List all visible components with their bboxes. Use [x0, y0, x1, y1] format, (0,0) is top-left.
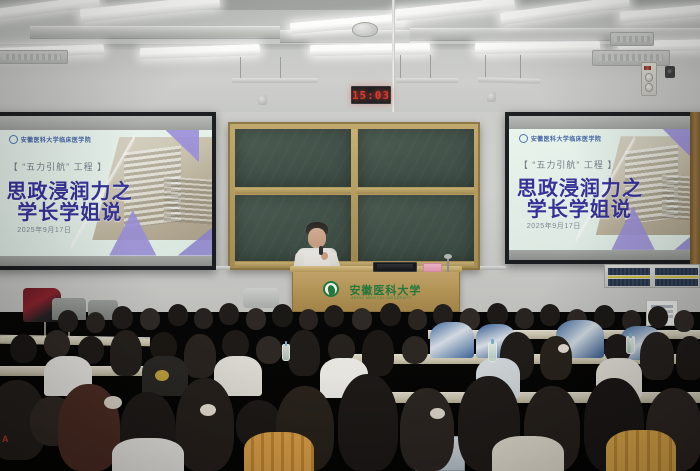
microphone: [319, 246, 323, 255]
light-hanger-1: [240, 57, 241, 79]
slide-date-right: 2025年9月17日: [527, 221, 581, 231]
audience-long-hair: [184, 334, 216, 378]
audience-head: [219, 303, 239, 325]
light-hanger-6: [520, 55, 521, 79]
audience-head: [140, 308, 160, 330]
audience-head: [256, 336, 282, 364]
audience-head: [324, 305, 344, 327]
audience-torso-plaid: [244, 432, 314, 471]
audience-head: [515, 308, 534, 329]
slide-org-name: 安徽医科大学临床医学院: [21, 135, 91, 144]
wall-camera: [665, 66, 675, 78]
slide-title-line2-right: 学长学姐说: [527, 193, 632, 222]
slide-header-right: 安徽医科大学临床医学院: [519, 134, 601, 143]
screen-right-surface: 安徽医科大学临床医学院 【 “五力引航” 工程 】 思政浸润力之 学长学姐说 2…: [509, 116, 700, 260]
audience-torso-plaid: [606, 430, 676, 471]
electrical-breaker-panel: [604, 264, 700, 288]
audience-head: [487, 303, 508, 326]
podium-mic-head: [444, 254, 452, 259]
blackboard-divider-vertical: [351, 129, 357, 261]
screen-left-bottom-bar: [0, 256, 212, 267]
breaker-bank-4: [655, 279, 698, 286]
audience-head: [58, 310, 78, 332]
light-hanger-5: [485, 55, 486, 79]
ceiling-shelf-1: [232, 78, 318, 83]
slide-header-left: 安徽医科大学临床医学院: [9, 135, 91, 144]
hair-tie-yellow: [155, 370, 169, 381]
water-bottle[interactable]: [282, 344, 290, 361]
university-logo-icon-right: [519, 134, 528, 143]
audience-long-hair: [288, 330, 320, 376]
door-frame-right: [690, 112, 700, 282]
wall-rail-left: [216, 266, 230, 270]
audience-torso-white: [112, 438, 184, 471]
audience-head: [402, 336, 428, 364]
audience-long-hair: [640, 332, 674, 380]
slide-right: 安徽医科大学临床医学院 【 “五力引航” 工程 】 思政浸润力之 学长学姐说 2…: [509, 129, 700, 250]
audience-head: [352, 308, 372, 330]
ceiling-diffuser: [610, 32, 654, 46]
screen-left-top-bar: [0, 116, 212, 130]
slide-subtitle-right: 【 “五力引航” 工程 】: [519, 158, 618, 171]
ceiling-light-9: [310, 43, 430, 56]
breaker-bank-1: [608, 268, 650, 275]
university-logo-icon: [9, 135, 18, 144]
blackboard-panel-1: [235, 129, 351, 187]
blackboard: [228, 122, 480, 270]
breaker-bank-2: [608, 279, 650, 286]
blackboard-panel-2: [358, 129, 474, 187]
audience-head: [408, 309, 427, 330]
slide-subtitle: 【 “五力引航” 工程 】: [9, 160, 108, 173]
audience-torso-patterned: [430, 322, 474, 358]
water-bottle[interactable]: [626, 336, 635, 354]
university-emblem-icon: [323, 281, 339, 297]
audience-head: [222, 330, 249, 359]
audience-head: [246, 308, 266, 330]
audience-long-hair: [110, 330, 142, 376]
audience-long-hair: [338, 374, 398, 471]
audience-head: [44, 330, 70, 358]
ceiling-panel-lamp-right: [592, 50, 670, 66]
audience-head: [168, 304, 188, 326]
wall-speaker-right: [487, 92, 496, 102]
control-panel-knob-lower[interactable]: [645, 83, 653, 91]
ceiling-shelf-2: [396, 78, 458, 83]
blackboard-panel-4: [358, 195, 474, 261]
ceiling-duct-right: [410, 28, 700, 41]
audience-long-hair: [176, 378, 234, 471]
clock-time: 15:03: [352, 89, 390, 102]
audience-head: [380, 303, 401, 326]
slide-title-line2: 学长学姐说: [17, 196, 122, 225]
audience-head: [272, 304, 293, 327]
wall-speaker-left: [258, 95, 267, 105]
screen-right-bottom-bar: [509, 250, 700, 260]
ceiling-duct-left: [30, 26, 280, 39]
screen-left-surface: 安徽医科大学临床医学院 【 “五力引航” 工程 】 思政浸润力之 学长学姐说 2…: [0, 116, 212, 266]
audience-long-hair: [400, 388, 454, 471]
audience-head: [10, 334, 37, 363]
podium-mic-stand: [447, 258, 449, 272]
corner-watermark: A: [2, 434, 9, 444]
podium-laptop[interactable]: [373, 262, 417, 272]
light-hanger-2: [280, 57, 281, 79]
audience-torso-cream: [492, 436, 564, 471]
ceiling: [0, 0, 700, 118]
audience-long-hair: [676, 336, 700, 380]
screen-right-top-bar: [509, 116, 700, 129]
control-panel-led: [644, 66, 651, 70]
slide-org-name-right: 安徽医科大学临床医学院: [531, 134, 601, 143]
ceiling-light-10: [475, 41, 600, 54]
ceiling-shelf-3: [478, 77, 540, 84]
light-hanger-4: [430, 55, 431, 79]
slide-date: 2025年9月17日: [17, 225, 71, 235]
audience-head: [112, 306, 133, 329]
podium-name-card: [423, 263, 442, 272]
lecture-hall-photo: 15:03 安徽医科大学临床医学院 【 “五力引航” 工程 】 思政浸润力之 学…: [0, 0, 700, 471]
projection-screen-right: 安徽医科大学临床医学院 【 “五力引航” 工程 】 思政浸润力之 学长学姐说 2…: [505, 112, 700, 264]
breaker-busbar-2: [655, 276, 698, 278]
hair-scrunchie: [200, 404, 216, 416]
water-bottle[interactable]: [488, 342, 497, 362]
audience-head: [648, 306, 668, 328]
podium-university-name-en: ANHUI MEDICAL UNIVERSITY: [351, 296, 412, 300]
hair-scrunchie: [430, 408, 445, 419]
audience-head: [540, 304, 560, 326]
hair-clip: [104, 396, 122, 409]
ceiling-panel-lamp-left: [0, 50, 68, 64]
slide-left: 安徽医科大学临床医学院 【 “五力引航” 工程 】 思政浸润力之 学长学姐说 2…: [0, 130, 212, 256]
breaker-busbar-1: [608, 276, 650, 278]
audience-long-hair: [540, 336, 572, 380]
wall-control-panel[interactable]: [641, 62, 657, 96]
support-pole: [392, 0, 395, 118]
audience-head: [194, 308, 213, 329]
speaker-head: [308, 228, 326, 248]
audience-head: [86, 312, 105, 333]
breaker-bank-3: [655, 268, 698, 275]
light-hanger-3: [400, 55, 401, 79]
podium: 安徽医科大学 ANHUI MEDICAL UNIVERSITY: [292, 270, 460, 312]
ceiling-speaker-dome: [352, 22, 378, 37]
control-panel-knob-upper[interactable]: [645, 73, 653, 81]
hair-scrunchie: [558, 344, 569, 353]
digital-wall-clock: 15:03: [351, 86, 391, 104]
wall-projector-housing: [243, 288, 279, 308]
audience-head: [299, 309, 318, 330]
projection-screen-left: 安徽医科大学临床医学院 【 “五力引航” 工程 】 思政浸润力之 学长学姐说 2…: [0, 112, 216, 270]
audience-head: [674, 310, 694, 332]
wall-rail-right: [480, 266, 506, 270]
